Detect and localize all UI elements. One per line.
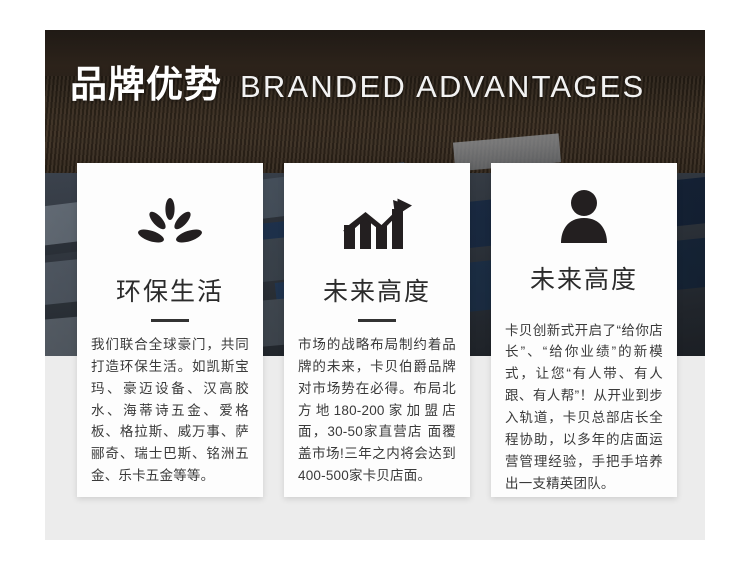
person-icon [555,189,613,245]
leaf-plant-icon [137,189,203,257]
advantage-card-list: 环保生活 我们联合全球豪门，共同打造环保生活。如凯斯宝玛、豪迈设备、汉高胶水、海… [77,163,677,497]
advantage-card: 未来高度 卡贝创新式开启了“给你店长”、“给你业绩”的新模式，让您“有人带、有人… [491,163,677,497]
hero-heading: 品牌优势 BRANDED ADVANTAGES [70,66,645,103]
growth-chart-icon [341,189,413,257]
card-body-text: 市场的战略布局制约着品牌的未来，卡贝伯爵品牌对市场势在必得。布局北方地180-2… [298,334,456,487]
promo-banner: 品牌优势 BRANDED ADVANTAGES 环保生活 我们联合全球豪门，共同… [0,0,750,573]
card-divider [151,319,189,322]
card-title: 未来高度 [323,279,431,307]
card-divider [358,319,396,322]
card-title: 环保生活 [116,279,224,307]
card-body-text: 卡贝创新式开启了“给你店长”、“给你业绩”的新模式，让您“有人带、有人跟、有人帮… [505,320,663,495]
hero-title-en: BRANDED ADVANTAGES [240,71,645,102]
advantage-card: 未来高度 市场的战略布局制约着品牌的未来，卡贝伯爵品牌对市场势在必得。布局北方地… [284,163,470,497]
hero-title-cn: 品牌优势 [70,66,222,103]
advantage-card: 环保生活 我们联合全球豪门，共同打造环保生活。如凯斯宝玛、豪迈设备、汉高胶水、海… [77,163,263,497]
card-title: 未来高度 [530,267,638,295]
card-body-text: 我们联合全球豪门，共同打造环保生活。如凯斯宝玛、豪迈设备、汉高胶水、海蒂诗五金、… [91,334,249,487]
